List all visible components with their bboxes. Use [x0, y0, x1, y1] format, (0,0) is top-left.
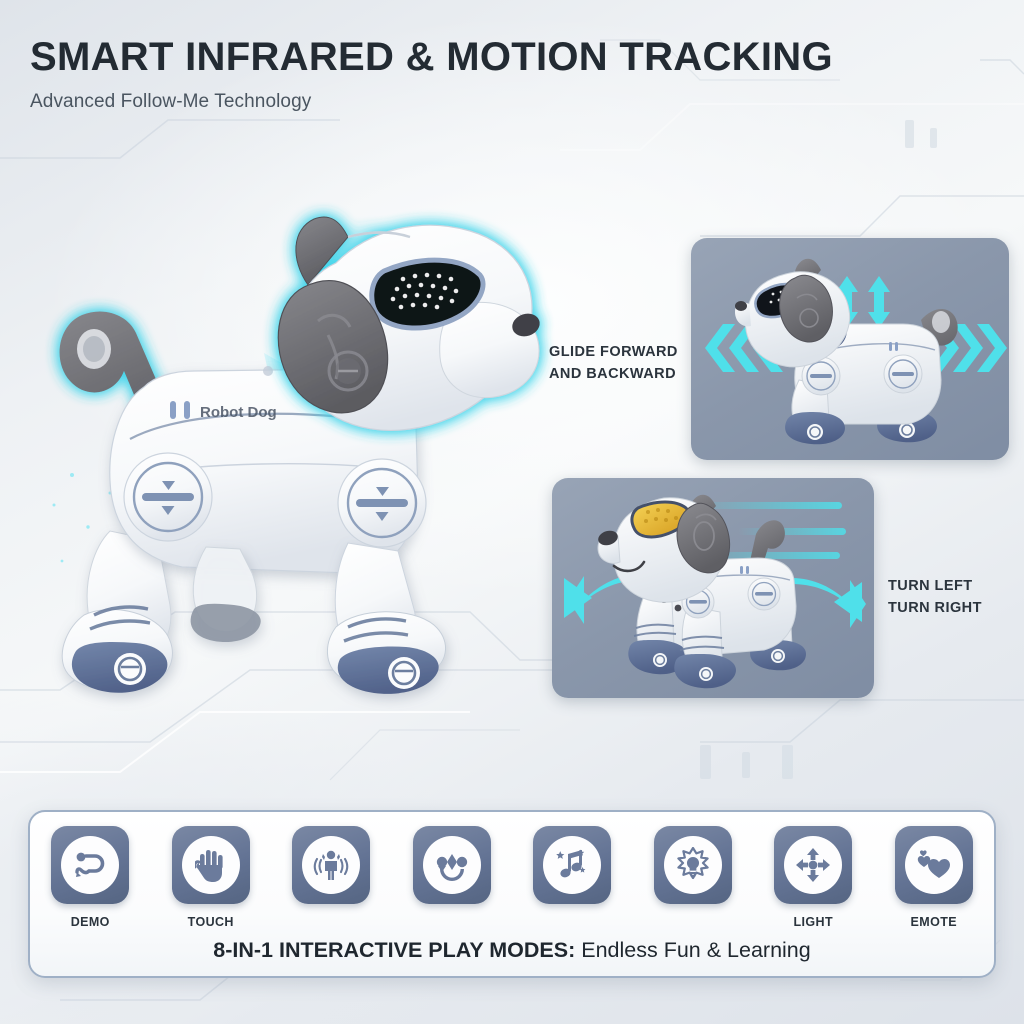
marketing-image-stage: SMART INFRARED & MOTION TRACKING Advance… — [0, 0, 1024, 1024]
mode-item-dance[interactable]: DANCE — [279, 826, 383, 929]
callout-glide-forward-backward: GLIDE FORWARD AND BACKWARD — [549, 341, 678, 385]
hand-icon — [195, 848, 227, 882]
dog-sit-icon — [73, 848, 107, 882]
mode-item-action[interactable]: ACTION — [400, 826, 504, 929]
svg-text:Robot Dog: Robot Dog — [200, 404, 277, 421]
inset-robot-dog-front — [596, 495, 806, 689]
mode-tile[interactable] — [413, 826, 491, 904]
mode-label: TOUCH — [188, 915, 234, 929]
mode-icon-circle — [784, 836, 842, 894]
header: SMART INFRARED & MOTION TRACKING Advance… — [30, 36, 890, 113]
mode-tile[interactable] — [895, 826, 973, 904]
curved-arrow-right-icon — [792, 578, 866, 628]
bulb-star-icon — [675, 847, 711, 883]
play-modes-banner-light: Endless Fun & Learning — [575, 938, 810, 962]
mode-item-smart[interactable]: SMART — [641, 826, 745, 929]
dancing-figure-icon — [313, 848, 349, 882]
callout-glide-line2: AND BACKWARD — [549, 363, 678, 385]
mode-icon-circle — [182, 836, 240, 894]
mode-item-demo[interactable]: DEMO — [38, 826, 142, 929]
mode-icon-circle — [905, 836, 963, 894]
play-modes-banner-bold: 8-IN-1 INTERACTIVE PLAY MODES: — [213, 938, 575, 962]
inset-panel-turn — [552, 478, 874, 698]
mode-icon-circle — [61, 836, 119, 894]
mode-tile[interactable] — [774, 826, 852, 904]
transform-icon — [434, 849, 470, 881]
callout-turn-left-right: TURN LEFT TURN RIGHT — [888, 575, 982, 619]
mode-tile[interactable] — [51, 826, 129, 904]
mode-tile[interactable] — [533, 826, 611, 904]
mode-label: LIGHT — [794, 915, 834, 929]
mode-tile[interactable] — [654, 826, 732, 904]
page-title: SMART INFRARED & MOTION TRACKING — [30, 36, 890, 78]
callout-turn-line1: TURN LEFT — [888, 575, 982, 597]
mode-label: EMOTE — [911, 915, 957, 929]
play-modes-row: DEMO — [30, 826, 994, 929]
inset-panel-glide — [691, 238, 1009, 460]
hero-product-image: Robot Dog — [18, 175, 578, 715]
mode-item-emote[interactable]: EMOTE — [882, 826, 986, 929]
play-modes-banner: 8-IN-1 INTERACTIVE PLAY MODES: Endless F… — [0, 938, 1024, 963]
mode-icon-circle — [543, 836, 601, 894]
mode-icon-circle — [302, 836, 360, 894]
mode-item-music[interactable]: MUSIC — [520, 826, 624, 929]
mode-icon-circle — [664, 836, 722, 894]
callout-turn-line2: TURN RIGHT — [888, 597, 982, 619]
mode-item-light[interactable]: LIGHT — [761, 826, 865, 929]
music-note-icon — [554, 848, 590, 882]
mode-tile[interactable] — [172, 826, 250, 904]
callout-glide-line1: GLIDE FORWARD — [549, 341, 678, 363]
mode-tile[interactable] — [292, 826, 370, 904]
four-way-move-icon — [795, 847, 831, 883]
hearts-icon — [916, 849, 952, 881]
product-brand-mark: Robot Dog — [170, 401, 277, 421]
page-subtitle: Advanced Follow-Me Technology — [30, 91, 890, 113]
mode-item-touch[interactable]: TOUCH — [159, 826, 263, 929]
robot-head — [278, 217, 542, 430]
mode-label: DEMO — [71, 915, 110, 929]
mode-icon-circle — [423, 836, 481, 894]
